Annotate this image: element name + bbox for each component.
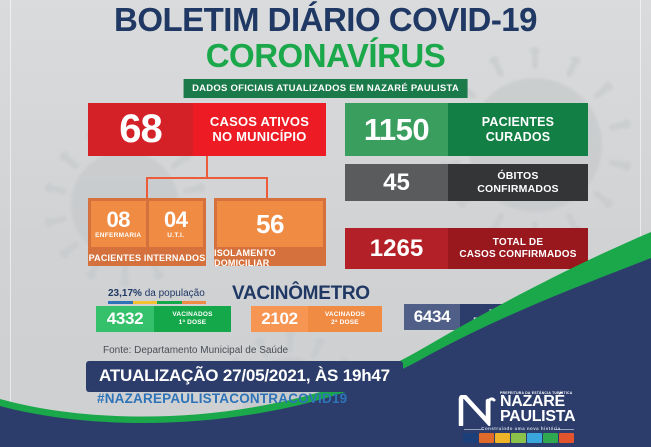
population-percentage: 23,17% da população [108,288,205,299]
enfermaria-label: ENFERMARIA [95,232,141,239]
logo-n-mark-icon [458,395,498,426]
hospitalized-footer-label: PACIENTES INTERNADOS [88,249,206,266]
total-doses-label-line1: TOTAL DE [489,309,522,317]
swatch-6-icon [543,433,558,443]
cured-label-line1: PACIENTES [482,115,554,129]
deaths-value: 45 [345,164,448,201]
underline-seg-orange [182,301,207,304]
total-doses-label: TOTAL DE DOSES APLICADAS [460,304,552,330]
active-cases-label: CASOS ATIVOS NO MUNICÍPIO [193,103,326,156]
second-dose-label-line1: VACINADOS [325,311,365,319]
second-dose-label: VACINADOS 2ª DOSE [308,306,382,332]
underline-seg-yellow [133,301,158,304]
population-percentage-suffix: da população [142,288,205,299]
isolation-value: 56 [256,209,284,240]
swatch-3-icon [495,433,510,443]
swatch-1-icon [463,433,478,443]
stat-total-confirmed-cases: 1265 TOTAL DE CASOS CONFIRMADOS [345,228,588,269]
swatch-4-icon [511,433,526,443]
active-cases-label-line1: CASOS ATIVOS [210,114,309,129]
vaccine-bar-first-dose: 4332 VACINADOS 1ª DOSE [96,306,231,332]
second-dose-value: 2102 [251,306,308,332]
connector-branch-left [146,177,148,199]
connector-horizontal [146,177,267,179]
cured-label: PACIENTES CURADOS [448,103,588,156]
isolation-footer-label: ISOLAMENTO DOMICILIAR [214,249,326,266]
first-dose-label-line2: 1ª DOSE [179,319,207,327]
official-data-banner: DADOS OFICIAIS ATUALIZADOS EM NAZARÉ PAU… [183,79,468,98]
logo-city-name: NAZARÉ PAULISTA [500,395,575,424]
uti-value: 04 [164,209,187,231]
cell-enfermaria: 08 ENFERMARIA [91,201,146,247]
last-update-banner: ATUALIZAÇÃO 27/05/2021, ÀS 19h47 [86,361,403,392]
deaths-label: ÓBITOS CONFIRMADOS [448,164,588,201]
stat-confirmed-deaths: 45 ÓBITOS CONFIRMADOS [345,164,588,201]
logo-tagline: Construindo uma nova história [466,426,576,431]
swatch-2-icon [479,433,494,443]
vacinometro-title: VACINÔMETRO [232,283,370,305]
vaccine-bar-total-doses: 6434 TOTAL DE DOSES APLICADAS [404,304,552,330]
population-percentage-underline [108,301,206,304]
total-confirmed-label: TOTAL DE CASOS CONFIRMADOS [448,228,588,269]
campaign-hashtag: #NAZAREPAULISTACONTRACOVID19 [97,391,347,406]
active-cases-value: 68 [88,103,193,156]
covid-bulletin-poster: BOLETIM DIÁRIO COVID-19 CORONAVÍRUS DADO… [0,0,651,447]
connector-branch-right [266,177,268,199]
group-hospitalized: 08 ENFERMARIA 04 U.T.I. PACIENTES INTERN… [88,198,206,266]
swatch-5-icon [527,433,542,443]
first-dose-label-line1: VACINADOS [172,311,212,319]
hospitalized-cells: 08 ENFERMARIA 04 U.T.I. [91,201,203,247]
stat-active-cases: 68 CASOS ATIVOS NO MUNICÍPIO [88,103,326,156]
group-home-isolation: 56 ISOLAMENTO DOMICILIAR [214,198,326,266]
enfermaria-value: 08 [107,209,130,231]
total-confirmed-label-line2: CASOS CONFIRMADOS [459,249,576,260]
connector-stem [206,156,208,178]
deaths-label-line2: CONFIRMADOS [477,183,559,195]
cured-value: 1150 [345,103,448,156]
page-title: BOLETIM DIÁRIO COVID-19 [0,2,651,38]
total-doses-label-line2: DOSES APLICADAS [473,317,538,325]
isolation-cell: 56 [217,201,323,247]
first-dose-value: 4332 [96,306,154,332]
page-subtitle-coronavirus: CORONAVÍRUS [0,38,651,74]
active-cases-label-line2: NO MUNICÍPIO [212,129,306,144]
total-confirmed-label-line1: TOTAL DE [493,237,544,248]
cured-label-line2: CURADOS [486,130,551,144]
stat-cured-patients: 1150 PACIENTES CURADOS [345,103,588,156]
second-dose-label-line2: 2ª DOSE [331,319,359,327]
data-source-text: Fonte: Departamento Municipal de Saúde [103,345,288,356]
swatch-7-icon [559,433,574,443]
vaccine-bar-second-dose: 2102 VACINADOS 2ª DOSE [251,306,382,332]
total-confirmed-value: 1265 [345,228,448,269]
total-doses-value: 6434 [404,304,460,330]
first-dose-label: VACINADOS 1ª DOSE [154,306,231,332]
population-percentage-value: 23,17% [108,288,142,299]
deaths-label-line1: ÓBITOS [497,170,538,182]
logo-department-swatches [463,433,574,443]
underline-seg-green [157,301,182,304]
uti-label: U.T.I. [167,232,184,239]
cell-uti: 04 U.T.I. [149,201,204,247]
underline-seg-blue [108,301,133,304]
city-hall-logo: PREFEITURA DA ESTÂNCIA TURÍSTICA NAZARÉ … [458,391,576,443]
logo-city-name-line2: PAULISTA [500,408,575,425]
